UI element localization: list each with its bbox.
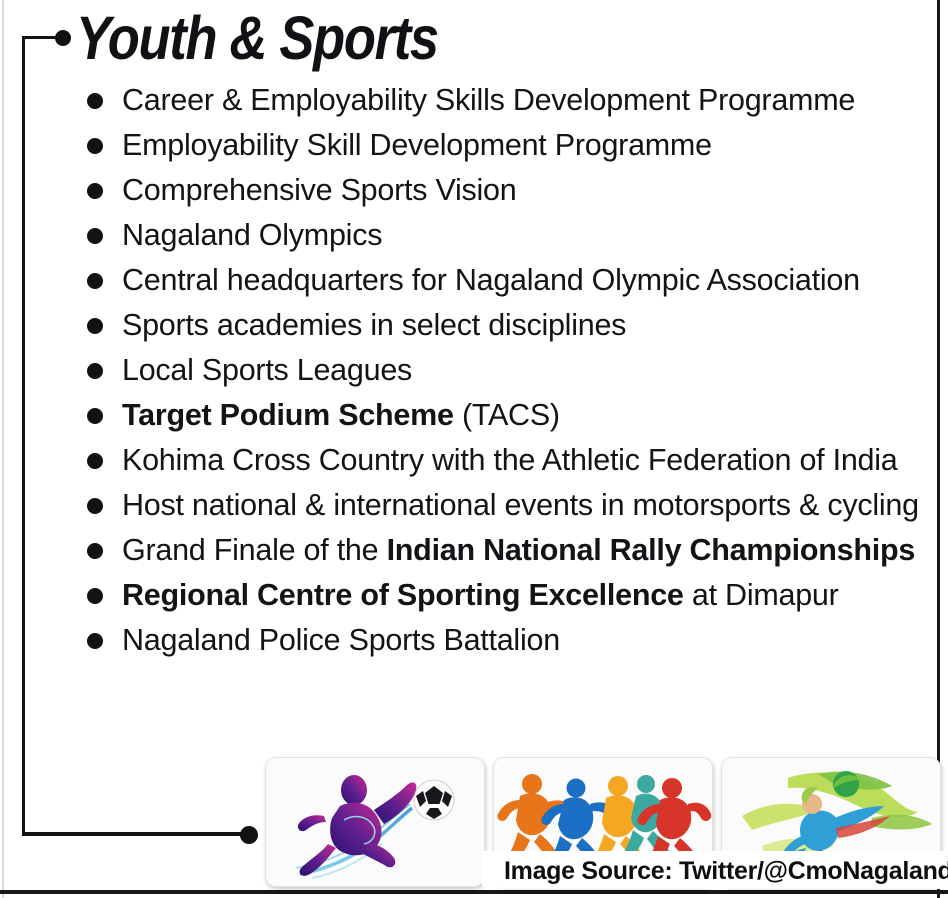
bullet-dot-icon bbox=[87, 408, 103, 424]
bullet-dot-icon bbox=[87, 498, 103, 514]
bullet-item-label: Central headquarters for Nagaland Olympi… bbox=[122, 263, 860, 297]
bullet-item: Regional Centre of Sporting Excellence a… bbox=[84, 575, 934, 616]
bullet-item-label: Local Sports Leagues bbox=[122, 353, 412, 387]
bullet-dot-icon bbox=[87, 363, 103, 379]
bullet-item-label: Career & Employability Skills Developmen… bbox=[122, 83, 855, 117]
bullet-dot-icon bbox=[87, 543, 103, 559]
bullet-item: Central headquarters for Nagaland Olympi… bbox=[84, 260, 934, 301]
bullet-item-label: Comprehensive Sports Vision bbox=[122, 173, 516, 207]
bullet-item-label: Sports academies in select disciplines bbox=[122, 308, 626, 342]
bullet-item-label: Target Podium Scheme (TACS) bbox=[122, 398, 560, 432]
bullet-item: Sports academies in select disciplines bbox=[84, 305, 934, 346]
bullet-item-label: Nagaland Police Sports Battalion bbox=[122, 623, 560, 657]
bullet-item: Comprehensive Sports Vision bbox=[84, 170, 934, 211]
bullet-dot-icon bbox=[87, 318, 103, 334]
bullet-dot-icon bbox=[87, 93, 103, 109]
bullet-item-label: Employability Skill Development Programm… bbox=[122, 128, 712, 162]
infographic-root: Youth & Sports Career & Employability Sk… bbox=[0, 0, 948, 898]
frame-left-border bbox=[2, 0, 4, 898]
soccer-ball-icon bbox=[414, 780, 454, 820]
bullet-dot-icon bbox=[87, 138, 103, 154]
bullet-item: Kohima Cross Country with the Athletic F… bbox=[84, 440, 934, 481]
bullet-item: Host national & international events in … bbox=[84, 485, 934, 526]
bullet-dot-icon bbox=[87, 588, 103, 604]
bullet-item-label: Nagaland Olympics bbox=[122, 218, 382, 252]
bullet-item-label: Kohima Cross Country with the Athletic F… bbox=[122, 443, 898, 477]
bracket-bottom-arm bbox=[22, 832, 250, 836]
bullet-dot-icon bbox=[87, 183, 103, 199]
footballer-kicking-ball-thumbnail[interactable] bbox=[265, 757, 485, 887]
image-source-caption: Image Source: Twitter/@CmoNagaland bbox=[498, 855, 948, 889]
bullet-item: Grand Finale of the Indian National Rall… bbox=[84, 530, 934, 571]
bullet-dot-icon bbox=[87, 453, 103, 469]
bracket-top-dot-icon bbox=[55, 30, 71, 46]
bullet-item: Employability Skill Development Programm… bbox=[84, 125, 934, 166]
bullet-item-label: Regional Centre of Sporting Excellence a… bbox=[122, 578, 839, 612]
scheme-bullet-list: Career & Employability Skills Developmen… bbox=[84, 80, 934, 665]
bullet-dot-icon bbox=[87, 228, 103, 244]
bullet-dot-icon bbox=[87, 633, 103, 649]
bullet-item: Career & Employability Skills Developmen… bbox=[84, 80, 934, 121]
frame-bottom-border bbox=[0, 890, 948, 894]
bullet-item: Nagaland Police Sports Battalion bbox=[84, 620, 934, 661]
bullet-item-label: Grand Finale of the Indian National Rall… bbox=[122, 533, 915, 567]
bracket-bottom-dot-icon bbox=[240, 826, 258, 844]
bracket-vertical-line bbox=[22, 36, 25, 835]
bullet-item-label: Host national & international events in … bbox=[122, 488, 919, 522]
bullet-item: Target Podium Scheme (TACS) bbox=[84, 395, 934, 436]
bullet-item: Local Sports Leagues bbox=[84, 350, 934, 391]
bullet-dot-icon bbox=[87, 273, 103, 289]
bullet-item: Nagaland Olympics bbox=[84, 215, 934, 256]
page-title: Youth & Sports bbox=[76, 6, 438, 70]
